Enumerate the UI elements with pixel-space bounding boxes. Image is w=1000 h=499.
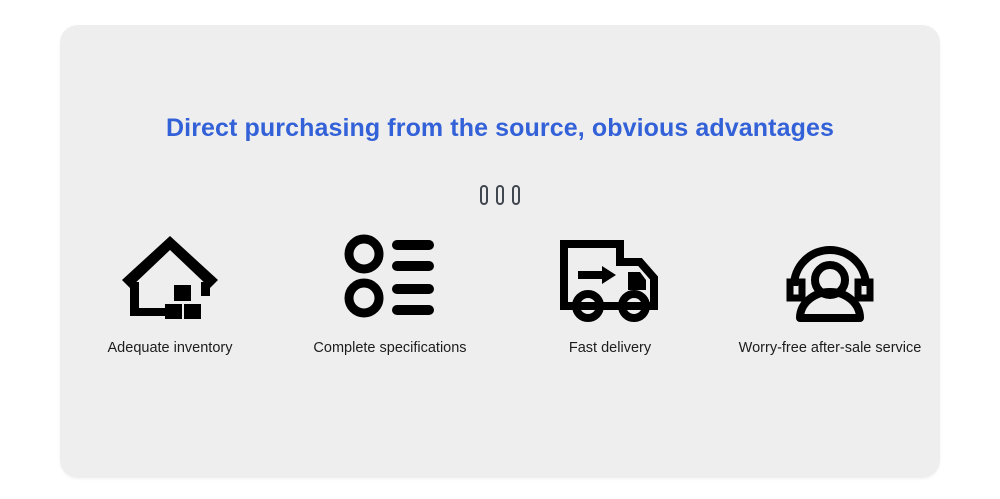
feature-item-inventory: Adequate inventory xyxy=(60,230,280,356)
customer-service-headset-icon xyxy=(778,230,882,322)
promo-banner: Direct purchasing from the source, obvio… xyxy=(0,0,1000,499)
feature-item-after-sale: Worry-free after-sale service xyxy=(720,230,940,356)
feature-label: Complete specifications xyxy=(313,340,466,356)
page-title: Direct purchasing from the source, obvio… xyxy=(60,113,940,143)
divider-pill-2 xyxy=(496,185,504,205)
feature-list: Adequate inventory Complete specificatio… xyxy=(60,230,940,356)
feature-label: Adequate inventory xyxy=(108,340,233,356)
specification-list-icon xyxy=(342,230,438,322)
delivery-truck-icon xyxy=(558,230,662,322)
three-pill-divider xyxy=(60,185,940,205)
feature-label: Fast delivery xyxy=(569,340,651,356)
warehouse-icon xyxy=(118,230,222,322)
feature-item-delivery: Fast delivery xyxy=(500,230,720,356)
advantages-card: Direct purchasing from the source, obvio… xyxy=(60,25,940,478)
divider-pill-1 xyxy=(480,185,488,205)
divider-pill-3 xyxy=(512,185,520,205)
feature-item-specifications: Complete specifications xyxy=(280,230,500,356)
feature-label: Worry-free after-sale service xyxy=(739,340,922,356)
